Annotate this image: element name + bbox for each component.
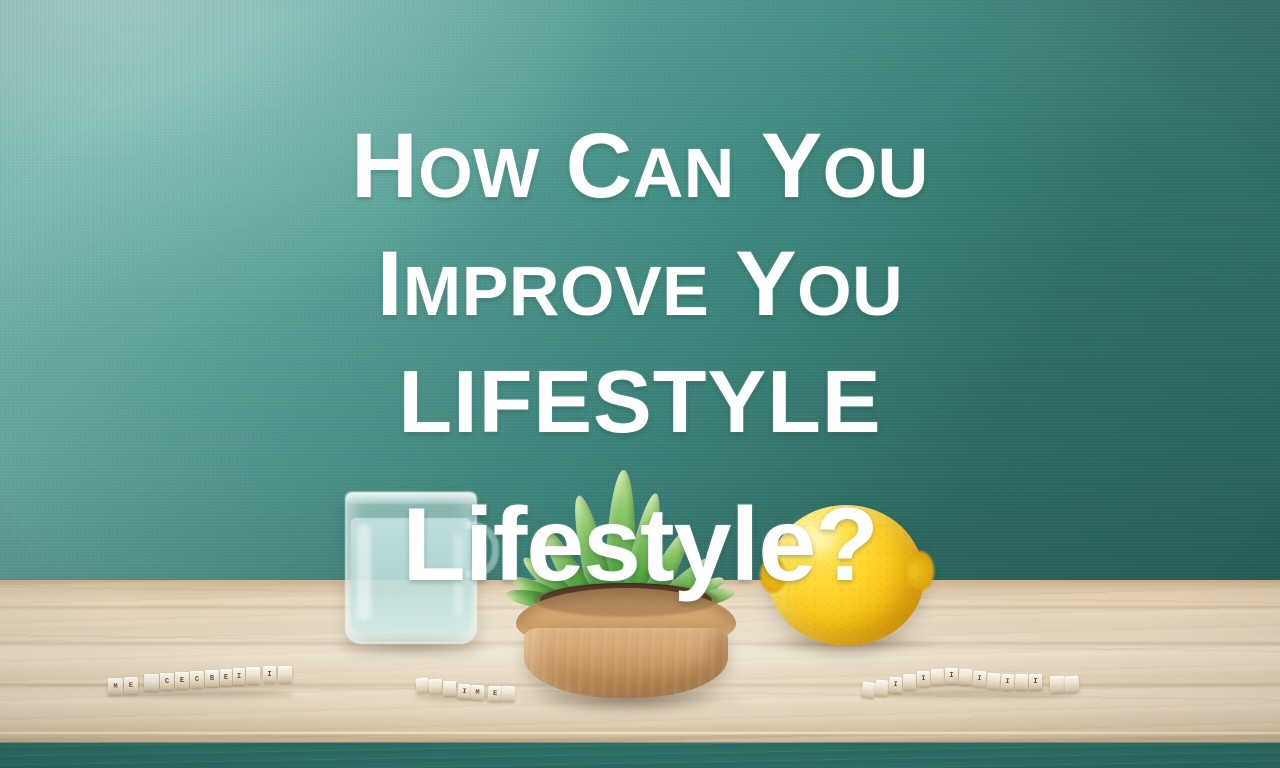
headline-line-4: Lifestyle? bbox=[0, 493, 1280, 597]
tile-glyph: I bbox=[458, 687, 472, 696]
tile-glyph: E bbox=[124, 681, 138, 689]
edge-grain-texture bbox=[0, 734, 1280, 768]
tile-glyph: E bbox=[175, 677, 189, 685]
word-initial: Y bbox=[735, 233, 797, 335]
letter-tile: B bbox=[205, 670, 219, 687]
letter-tile bbox=[959, 669, 973, 686]
letter-tile: I bbox=[945, 668, 958, 684]
word-body: OU bbox=[797, 252, 903, 330]
word-initial: I bbox=[377, 233, 403, 335]
letter-tile bbox=[415, 677, 429, 693]
letter-tile: E bbox=[124, 677, 138, 694]
headline-word: YOU bbox=[735, 238, 903, 330]
letter-tile: E bbox=[175, 672, 189, 689]
letter-tile: I bbox=[888, 677, 902, 694]
tile-glyph: I bbox=[973, 674, 987, 683]
tile-glyph: I bbox=[1001, 677, 1015, 686]
word-initial: C bbox=[566, 115, 633, 217]
tile-glyph: M bbox=[108, 682, 123, 691]
headline-word: IMPROVE bbox=[377, 238, 709, 330]
tile-glyph: E bbox=[220, 674, 232, 682]
word-initial: H bbox=[351, 115, 418, 217]
letter-tile: I bbox=[1000, 673, 1014, 690]
word-body: AN bbox=[633, 134, 735, 212]
tile-glyph: I bbox=[945, 672, 958, 680]
table-front-edge bbox=[0, 734, 1280, 768]
tile-glyph: M bbox=[471, 688, 485, 697]
letter-tile bbox=[986, 672, 1001, 689]
letter-tile bbox=[874, 679, 889, 696]
letter-tile: M bbox=[108, 678, 124, 696]
headline-overlay: HOWCANYOU IMPROVEYOU LIFESTYLE Lifestyle… bbox=[0, 0, 1280, 620]
word-body: OW bbox=[418, 134, 540, 212]
letter-tile: I bbox=[972, 670, 986, 687]
letter-tile: E bbox=[488, 686, 503, 703]
headline-line-3: LIFESTYLE bbox=[0, 358, 1280, 446]
letter-tile: C bbox=[160, 673, 174, 690]
letter-tile bbox=[278, 666, 292, 683]
word-body: OU bbox=[823, 134, 929, 212]
letter-tile bbox=[443, 681, 456, 696]
letter-tile: I bbox=[457, 684, 471, 700]
letter-tile bbox=[1065, 676, 1080, 694]
letter-tile: I bbox=[263, 666, 276, 683]
tile-glyph: C bbox=[160, 678, 174, 686]
letter-tile bbox=[1015, 674, 1029, 691]
headline-line-2: IMPROVEYOU bbox=[0, 238, 1280, 330]
letter-tile: E bbox=[220, 669, 232, 686]
letter-tile bbox=[502, 686, 516, 703]
headline-word: CAN bbox=[566, 120, 735, 212]
tile-glyph: B bbox=[205, 675, 219, 683]
letter-tile: C bbox=[190, 671, 204, 688]
letter-tile bbox=[428, 679, 442, 695]
headline-word: HOW bbox=[351, 120, 539, 212]
tile-glyph: I bbox=[263, 671, 276, 679]
tile-glyph: I bbox=[889, 681, 903, 690]
letter-tile bbox=[144, 674, 159, 691]
tile-glyph: I bbox=[917, 675, 930, 683]
letter-tile bbox=[931, 669, 945, 686]
letter-tile: I bbox=[233, 668, 245, 685]
letter-tile bbox=[246, 667, 260, 684]
tile-glyph: I bbox=[233, 673, 245, 681]
tile-glyph: I bbox=[1029, 678, 1042, 686]
letter-tile: M bbox=[470, 685, 484, 701]
tile-glyph: E bbox=[488, 690, 502, 699]
headline-word: YOU bbox=[761, 120, 929, 212]
letter-tile bbox=[903, 674, 916, 690]
word-body: MPROVE bbox=[403, 252, 709, 330]
letter-tile: I bbox=[917, 671, 931, 687]
letter-tile bbox=[1050, 676, 1066, 694]
word-initial: Y bbox=[761, 115, 823, 217]
tile-glyph: C bbox=[190, 676, 204, 684]
banner-canvas: M E C E C B E I I I M E I I I I I bbox=[0, 0, 1280, 768]
letter-tile: I bbox=[1029, 674, 1042, 690]
headline-line-1: HOWCANYOU bbox=[0, 120, 1280, 212]
